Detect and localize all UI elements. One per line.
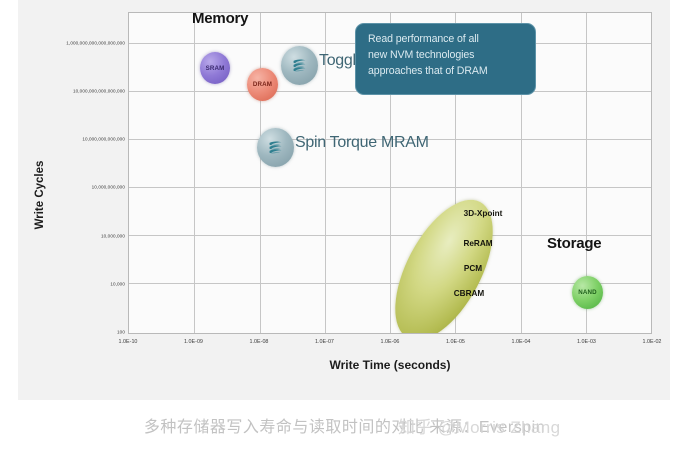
- gridline-vertical: [194, 13, 195, 333]
- x-axis-title: Write Time (seconds): [128, 358, 652, 372]
- data-point-sram[interactable]: SRAM: [200, 52, 230, 84]
- y-tick-0: 1,000,000,000,000,000,000: [66, 40, 125, 45]
- data-point-dram[interactable]: DRAM: [247, 68, 278, 101]
- y-tick-4: 10,000,000: [101, 233, 125, 238]
- zhihu-watermark: 知乎 @Morris Zhang: [398, 413, 561, 438]
- y-tick-1: 10,000,000,000,000,000: [73, 88, 125, 93]
- data-point-label-spin-torque-mram: Spin Torque MRAM: [295, 134, 429, 152]
- y-tick-6: 100: [117, 329, 125, 334]
- region-label-storage: Storage: [547, 235, 601, 252]
- x-axis-ticks: 1.0E-10 1.0E-09 1.0E-08 1.0E-07 1.0E-06 …: [128, 339, 652, 353]
- x-tick-5: 1.0E-05: [446, 339, 465, 345]
- everspin-wave-icon: [266, 138, 285, 157]
- annotation-line-3: approaches that of DRAM: [368, 63, 525, 79]
- x-tick-2: 1.0E-08: [250, 339, 269, 345]
- x-tick-7: 1.0E-03: [577, 339, 596, 345]
- data-point-spin-torque-mram[interactable]: [257, 128, 294, 167]
- everspin-wave-icon: [290, 56, 309, 75]
- annotation-callout: Read performance of all new NVM technolo…: [355, 23, 536, 95]
- figure-caption: 多种存储器写入寿命与读取时间的对比 来源：Everspin: [0, 413, 689, 437]
- nvm-member-pcm: PCM: [464, 264, 482, 273]
- x-tick-6: 1.0E-04: [512, 339, 531, 345]
- chart-card: Write Cycles 1,000,000,000,000,000,000 1…: [18, 0, 670, 400]
- nvm-member-3d-xpoint: 3D-Xpoint: [464, 209, 503, 218]
- annotation-line-2: new NVM technologies: [368, 47, 525, 63]
- data-point-label-sram: SRAM: [206, 65, 225, 72]
- y-tick-3: 10,000,000,000: [92, 185, 125, 190]
- x-tick-0: 1.0E-10: [119, 339, 138, 345]
- x-tick-4: 1.0E-06: [381, 339, 400, 345]
- region-label-memory: Memory: [192, 12, 248, 27]
- gridline-vertical: [260, 13, 261, 333]
- x-tick-3: 1.0E-07: [315, 339, 334, 345]
- x-tick-1: 1.0E-09: [184, 339, 203, 345]
- y-axis-ticks: 1,000,000,000,000,000,000 10,000,000,000…: [18, 12, 125, 334]
- data-point-label-dram: DRAM: [253, 81, 272, 88]
- data-point-toggle-mram[interactable]: [281, 46, 318, 85]
- nvm-member-cbram: CBRAM: [454, 289, 484, 298]
- nvm-cluster-ellipse: [375, 185, 513, 334]
- y-tick-2: 10,000,000,000,000: [82, 137, 125, 142]
- gridline-horizontal: [129, 187, 651, 188]
- data-point-nand[interactable]: NAND: [572, 276, 603, 309]
- y-tick-5: 10,000: [110, 282, 125, 287]
- x-tick-8: 1.0E-02: [643, 339, 662, 345]
- data-point-label-nand: NAND: [578, 289, 596, 296]
- nvm-member-reram: ReRAM: [463, 239, 492, 248]
- annotation-line-1: Read performance of all: [368, 31, 525, 47]
